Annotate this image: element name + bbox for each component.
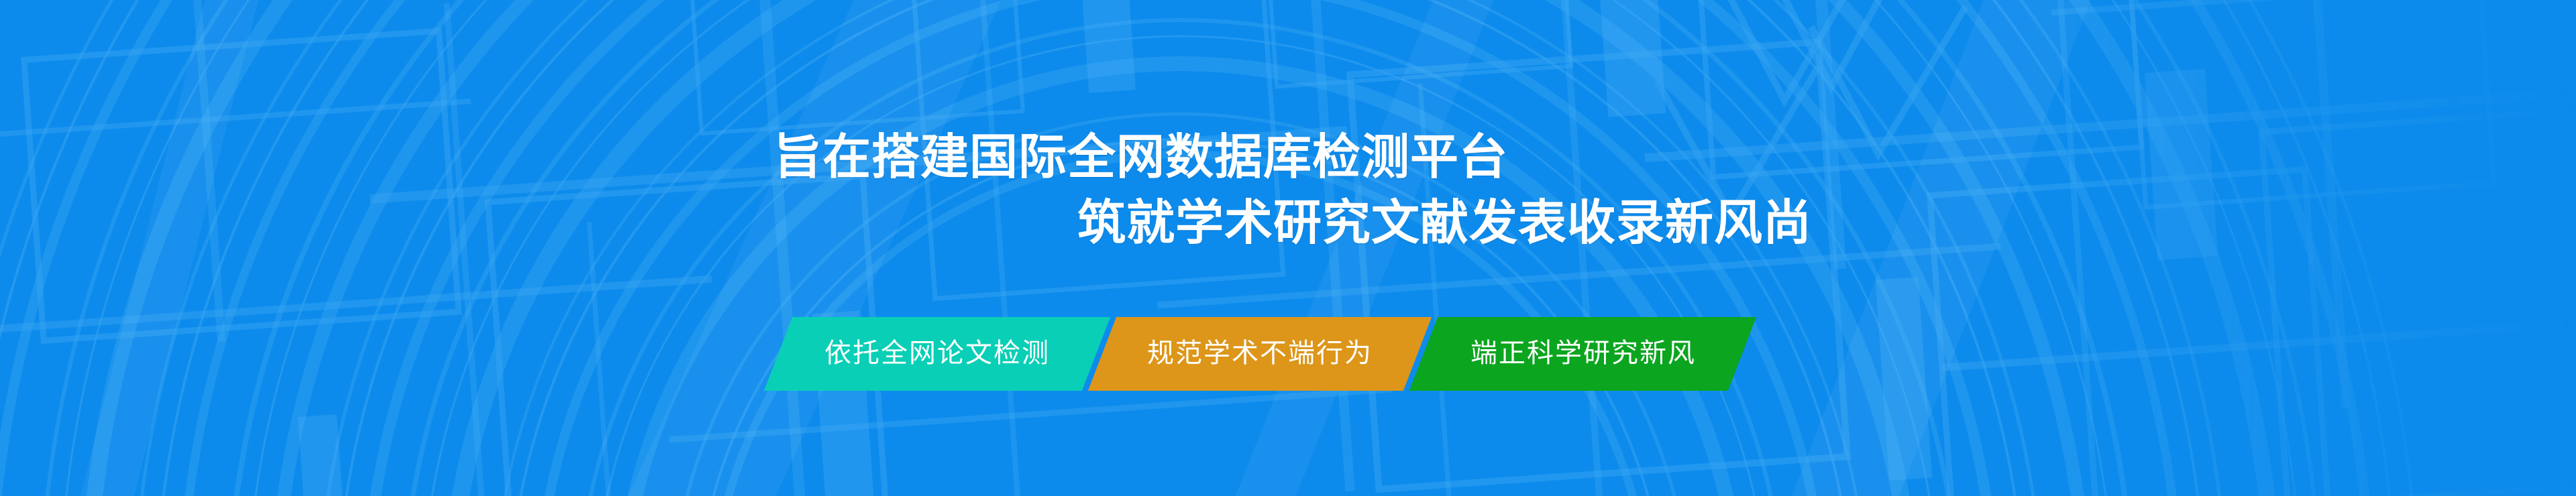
feature-tag-3[interactable]: 端正科学研究新风	[1409, 317, 1756, 391]
feature-tag-3-label: 端正科学研究新风	[1470, 340, 1696, 368]
promo-banner: 旨在搭建国际全网数据库检测平台 筑就学术研究文献发表收录新风尚 依托全网论文检测…	[0, 0, 2576, 496]
headline-line-1: 旨在搭建国际全网数据库检测平台	[0, 125, 2576, 190]
headline-line-2: 筑就学术研究文献发表收录新风尚	[0, 190, 2576, 256]
feature-tag-2-label: 规范学术不端行为	[1147, 340, 1373, 368]
feature-tag-1-label: 依托全网论文检测	[824, 340, 1050, 368]
feature-tag-2[interactable]: 规范学术不端行为	[1088, 317, 1432, 391]
feature-tag-1[interactable]: 依托全网论文检测	[764, 317, 1110, 391]
feature-tag-strip: 依托全网论文检测 规范学术不端行为 端正科学研究新风	[778, 317, 1742, 391]
headline-group: 旨在搭建国际全网数据库检测平台 筑就学术研究文献发表收录新风尚	[0, 125, 2576, 256]
